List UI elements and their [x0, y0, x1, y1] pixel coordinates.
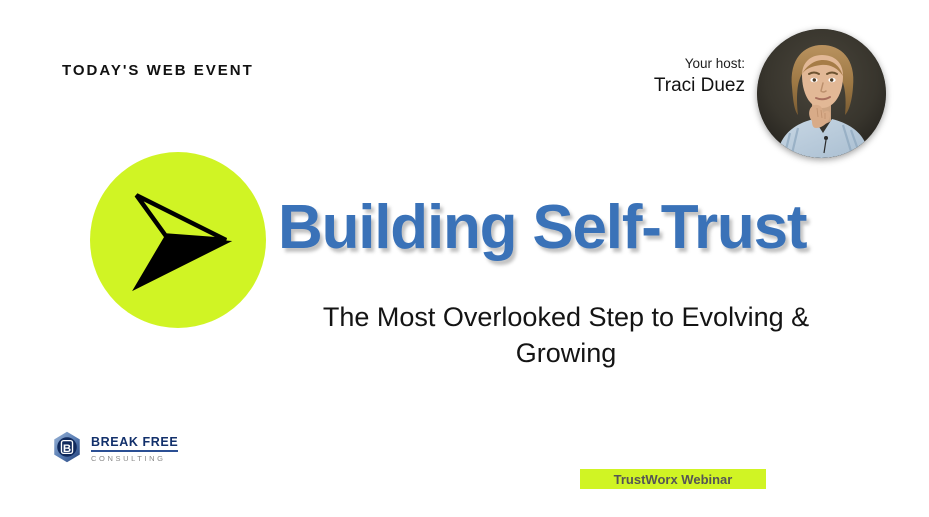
- host-portrait-avatar: [757, 29, 886, 158]
- brand-tagline: CONSULTING: [91, 455, 178, 463]
- host-name: Traci Duez: [590, 74, 745, 98]
- eyebrow-label: TODAY'S WEB EVENT: [62, 62, 254, 79]
- brand-name: BREAK FREE: [91, 436, 178, 452]
- page-subtitle: The Most Overlooked Step to Evolving & G…: [280, 300, 852, 371]
- page-title: Building Self-Trust: [278, 197, 878, 259]
- host-portrait-image: [757, 29, 886, 158]
- bottom-ribbon: TrustWorx Webinar: [580, 469, 766, 489]
- brand-logo: B BREAK FREE CONSULTING: [50, 430, 178, 464]
- send-arrow-icon: [123, 184, 235, 296]
- send-arrow-badge: [90, 152, 266, 328]
- svg-text:B: B: [63, 443, 71, 455]
- host-label: Your host:: [590, 56, 745, 73]
- host-block: Your host: Traci Duez: [590, 56, 745, 98]
- brand-wordmark: BREAK FREE CONSULTING: [91, 432, 178, 462]
- bottom-ribbon-label: TrustWorx Webinar: [614, 472, 733, 487]
- hexagon-b-icon: B: [50, 430, 84, 464]
